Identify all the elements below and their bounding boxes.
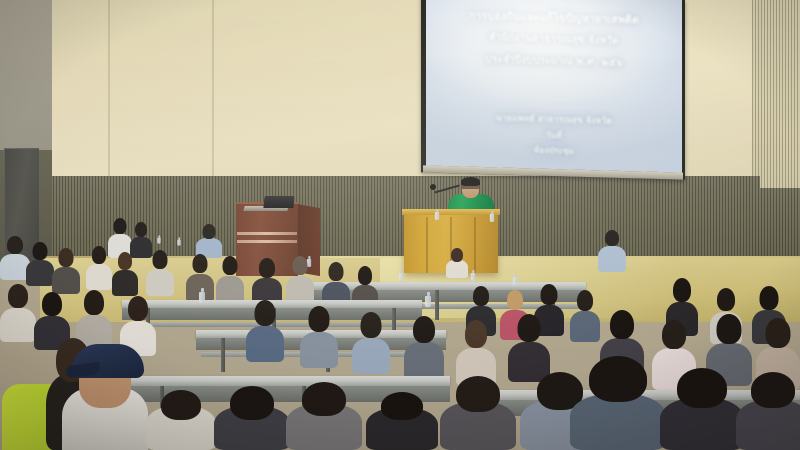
screen-surface: การป฼องกันและแก้ไขปัญหายาเสพติด สำนักงาน… bbox=[426, 0, 682, 173]
person-head bbox=[33, 242, 48, 260]
bottle-cap bbox=[491, 211, 493, 214]
water-bottle bbox=[435, 209, 439, 220]
person-head bbox=[193, 254, 208, 273]
table-leg bbox=[221, 338, 225, 372]
bottle-body bbox=[157, 238, 160, 244]
person-head bbox=[662, 320, 686, 349]
person-body bbox=[86, 264, 112, 290]
audience-person bbox=[366, 392, 438, 450]
water-bottle bbox=[399, 270, 403, 281]
audience-person bbox=[660, 368, 744, 450]
bottle-cap bbox=[201, 288, 204, 292]
person-head bbox=[114, 218, 127, 234]
projector-glow bbox=[426, 0, 682, 121]
person-body bbox=[300, 332, 338, 368]
person-body bbox=[26, 260, 54, 286]
audience-person bbox=[112, 252, 138, 296]
person-head bbox=[751, 372, 795, 408]
bottle-body bbox=[490, 214, 494, 222]
audience-person bbox=[214, 386, 290, 450]
glasses-icon bbox=[462, 186, 479, 189]
person-head bbox=[473, 286, 489, 306]
person-body bbox=[446, 260, 468, 278]
bottle-body bbox=[425, 296, 431, 307]
bottle-cap bbox=[514, 274, 516, 277]
audience-person bbox=[352, 312, 390, 374]
person-head bbox=[42, 292, 62, 316]
audience-person bbox=[570, 356, 666, 450]
bottle-cap bbox=[427, 292, 430, 296]
lectern-trim bbox=[237, 240, 297, 243]
bottle-body bbox=[399, 273, 403, 281]
bottle-cap bbox=[158, 235, 160, 237]
audience-person bbox=[404, 316, 444, 380]
person-head bbox=[451, 248, 463, 262]
person-head bbox=[161, 390, 201, 420]
person-head bbox=[589, 356, 647, 402]
person-head bbox=[153, 250, 168, 269]
person-head bbox=[381, 392, 423, 420]
table-top bbox=[120, 376, 450, 386]
person-head bbox=[118, 252, 132, 270]
audience-person bbox=[440, 376, 516, 450]
person-head bbox=[84, 290, 104, 315]
person-head bbox=[413, 316, 435, 343]
person-head bbox=[309, 306, 330, 332]
bottle-body bbox=[471, 273, 475, 281]
audience-person bbox=[252, 258, 282, 306]
person-head bbox=[577, 290, 593, 311]
person-head bbox=[766, 318, 791, 348]
person-head bbox=[507, 290, 523, 310]
lower-wall-right bbox=[752, 188, 800, 260]
presenter-hair bbox=[461, 177, 480, 186]
podium-top bbox=[402, 209, 500, 215]
person-head bbox=[203, 224, 216, 239]
water-bottle bbox=[199, 288, 205, 303]
audience-person bbox=[146, 250, 174, 296]
bottle-cap bbox=[400, 270, 402, 273]
person-body bbox=[246, 326, 284, 362]
water-bottle bbox=[157, 235, 160, 243]
podium-slat bbox=[474, 217, 476, 273]
water-bottle bbox=[513, 274, 517, 285]
person-head bbox=[465, 320, 487, 348]
person-head bbox=[361, 312, 382, 338]
person-head bbox=[7, 236, 23, 254]
person-head bbox=[358, 266, 372, 285]
person-head bbox=[92, 246, 106, 264]
audience-person bbox=[0, 284, 36, 342]
water-bottle bbox=[177, 237, 180, 245]
bottle-body bbox=[199, 292, 205, 303]
person-body bbox=[0, 308, 36, 342]
person-head bbox=[135, 222, 147, 237]
person-body bbox=[598, 246, 626, 272]
bottle-cap bbox=[178, 237, 180, 239]
person-body bbox=[570, 311, 600, 342]
audience-person bbox=[146, 390, 216, 450]
projection-screen: การป฼องกันและแก้ไขปัญหายาเสพติด สำนักงาน… bbox=[421, 0, 685, 180]
audience-person bbox=[196, 224, 222, 258]
water-bottle bbox=[425, 292, 431, 307]
bottle-cap bbox=[436, 209, 438, 212]
man-in-navy-cap bbox=[62, 344, 148, 450]
person-head bbox=[717, 288, 735, 311]
person-head bbox=[717, 314, 742, 344]
person-body bbox=[404, 342, 444, 380]
audience-person bbox=[300, 306, 338, 368]
person-body bbox=[146, 269, 174, 296]
audience-person bbox=[52, 248, 80, 294]
person-head bbox=[456, 376, 500, 412]
person-head bbox=[255, 300, 276, 326]
audience-person bbox=[286, 256, 314, 304]
audience-person bbox=[446, 248, 468, 278]
water-bottle bbox=[471, 270, 475, 281]
audience-person bbox=[286, 382, 362, 450]
person-head bbox=[128, 296, 148, 321]
audience-person bbox=[570, 290, 600, 342]
person-head bbox=[677, 368, 727, 408]
person-head bbox=[59, 248, 74, 267]
lecture-hall-photo: การป฼องกันและแก้ไขปัญหายาเสพติด สำนักงาน… bbox=[0, 0, 800, 450]
person-head bbox=[673, 278, 691, 302]
audience-person bbox=[736, 372, 800, 450]
bottle-body bbox=[177, 240, 180, 246]
person-head bbox=[329, 262, 344, 281]
audience-person bbox=[598, 230, 626, 272]
bottle-body bbox=[435, 212, 439, 220]
person-head bbox=[541, 284, 558, 305]
bottle-cap bbox=[472, 270, 474, 273]
person-head bbox=[605, 230, 619, 246]
water-bottle bbox=[490, 211, 494, 222]
person-body bbox=[570, 394, 666, 450]
audience-person bbox=[26, 242, 54, 286]
podium-slat bbox=[426, 217, 428, 273]
person-head bbox=[760, 286, 779, 310]
microphone-icon bbox=[430, 184, 436, 190]
person-head bbox=[302, 382, 346, 416]
person-head bbox=[259, 258, 275, 278]
audience-person bbox=[86, 246, 112, 290]
person-head bbox=[230, 386, 274, 420]
person-head bbox=[223, 256, 238, 275]
person-body bbox=[112, 270, 138, 296]
person-head bbox=[518, 314, 541, 342]
lectern-trim bbox=[237, 232, 297, 235]
person-head bbox=[8, 284, 28, 308]
person-head bbox=[610, 310, 634, 339]
person-body bbox=[352, 338, 390, 374]
audience-person bbox=[246, 300, 284, 362]
laptop-screen bbox=[263, 196, 294, 208]
bottle-body bbox=[513, 277, 517, 285]
audience-person bbox=[216, 256, 244, 304]
person-head bbox=[293, 256, 308, 275]
